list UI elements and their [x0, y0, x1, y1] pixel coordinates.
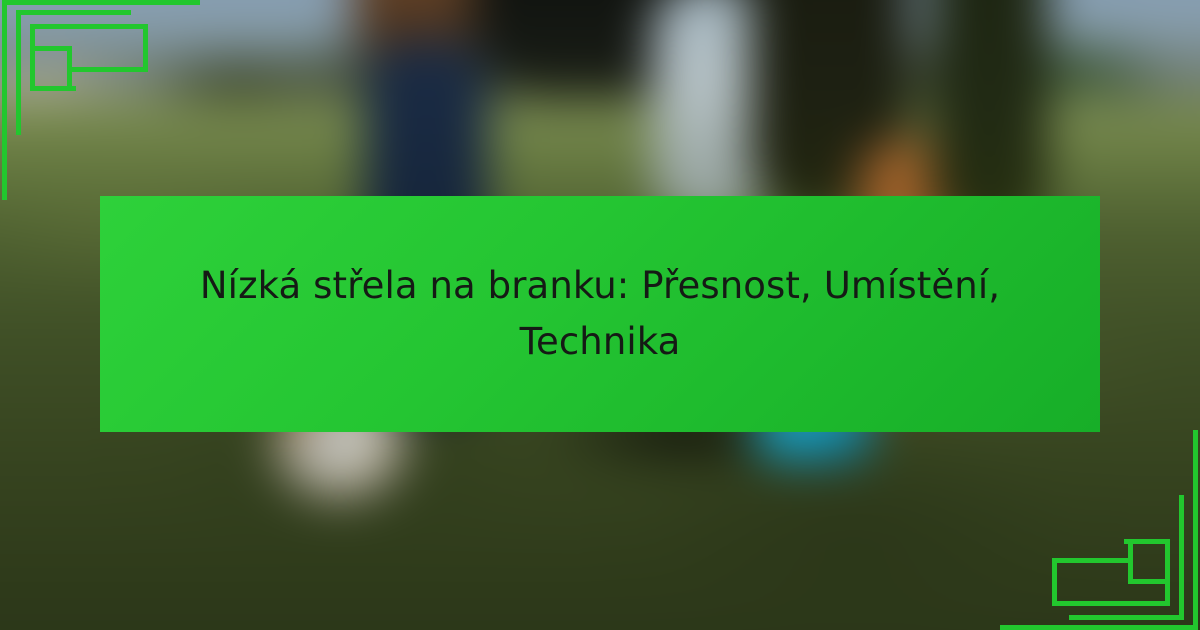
title-card: Nízká střela na branku: Přesnost, Umístě…: [0, 0, 1200, 630]
page-title: Nízká střela na branku: Přesnost, Umístě…: [146, 258, 1054, 370]
title-banner: Nízká střela na branku: Přesnost, Umístě…: [100, 196, 1100, 432]
